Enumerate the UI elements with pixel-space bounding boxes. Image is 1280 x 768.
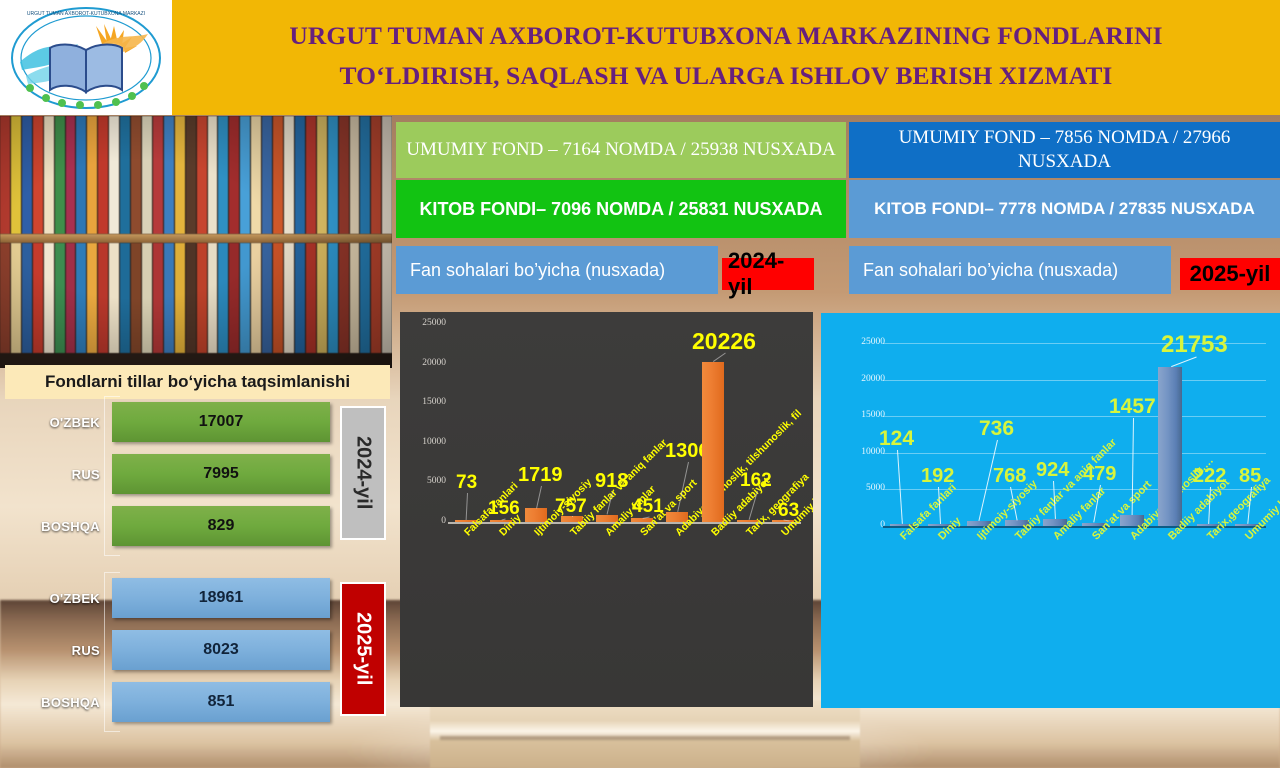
gridline [883,453,1266,454]
bar-value-label: 85 [1239,465,1261,488]
language-row: BOSHQA829 [0,504,392,548]
bar-value-label: 21753 [1161,331,1228,359]
banner-2025-subject-label: Fan sohalari bo’yicha (nusxada) [849,246,1171,294]
language-year-badge-2024: 2024-yil [340,406,386,540]
label-leader-line [897,450,903,524]
language-year-badge-2025: 2025-yil [340,582,386,716]
bar-value-label: 1719 [518,464,563,487]
page-header: URGUT TUMAN AXBOROT-KUTUBXONA MARKAZI UR… [0,0,1280,115]
bar-value-label: 222 [1193,465,1226,488]
language-name: O'ZBEK [0,415,112,430]
bar-value-label: 192 [921,465,954,488]
label-leader-line [536,486,542,509]
language-row: O'ZBEK17007 [0,400,392,444]
gridline [883,416,1266,417]
plot-area-2025: 0500010000150002000025000124Falsafa fanl… [821,313,1280,708]
bar-value-label: 1457 [1109,395,1156,419]
logo-container: URGUT TUMAN AXBOROT-KUTUBXONA MARKAZI [0,0,172,115]
bar-value-label: 162 [740,470,772,492]
bar-value-label: 73 [456,472,477,494]
language-row: RUS8023 [0,628,392,672]
y-axis-tick-label: 0 [406,516,446,526]
y-axis-tick-label: 15000 [406,397,446,407]
banner-2024-book-fund: KITOB FONDI– 7096 NOMDA / 25831 NUSXADA [396,180,846,238]
y-axis-tick-label: 20000 [406,358,446,368]
y-axis-tick-label: 5000 [406,476,446,486]
chart-subject-areas-2025: 0500010000150002000025000124Falsafa fanl… [821,313,1280,708]
page-title: URGUT TUMAN AXBOROT-KUTUBXONA MARKAZININ… [172,0,1280,115]
bar-value-label: 20226 [692,328,756,355]
language-bars-2025: O'ZBEK18961RUS8023BOSHQA851 [0,576,392,726]
bar-value-label: 768 [993,465,1026,488]
svg-text:URGUT TUMAN AXBOROT-KUTUBXONA: URGUT TUMAN AXBOROT-KUTUBXONA MARKAZI [27,11,145,17]
language-value-bar: 7995 [112,454,330,494]
page-title-line-2: TO‘LDIRISH, SAQLASH VA ULARGA ISHLOV BER… [340,56,1113,96]
y-axis-tick-label: 10000 [406,437,446,447]
page-title-line-1: URGUT TUMAN AXBOROT-KUTUBXONA MARKAZININ… [289,16,1162,56]
y-axis-tick-label: 25000 [843,337,885,347]
language-value-bar: 851 [112,682,330,722]
language-name: BOSHQA [0,519,112,534]
label-leader-line [572,516,573,517]
y-axis-tick-label: 20000 [843,374,885,384]
y-axis-tick-label: 25000 [406,318,446,328]
language-name: RUS [0,467,112,482]
plot-area-2024: 050001000015000200002500073Falsafa fanla… [400,312,813,707]
library-shelf-photo [0,116,392,368]
label-leader-line [466,493,468,520]
gridline [883,380,1266,381]
bar-value-label: 124 [879,427,914,451]
y-axis-tick-label: 5000 [843,483,885,493]
language-row: O'ZBEK18961 [0,576,392,620]
language-value-bar: 8023 [112,630,330,670]
photo-vignette [0,116,392,368]
y-axis-tick-label: 15000 [843,410,885,420]
language-row: BOSHQA851 [0,680,392,724]
year-badge-2024: 2024-yil [722,258,814,290]
language-bars-2024: O'ZBEK17007RUS7995BOSHQA829 [0,400,392,550]
year-badge-2025: 2025-yil [1180,258,1280,290]
library-center-logo-icon: URGUT TUMAN AXBOROT-KUTUBXONA MARKAZI [6,4,166,112]
language-name: O'ZBEK [0,591,112,606]
bar [702,362,724,522]
language-value-bar: 18961 [112,578,330,618]
banner-2025-book-fund: KITOB FONDI– 7778 NOMDA / 27835 NUSXADA [849,180,1280,238]
open-book-photo [430,700,860,768]
bar [1158,367,1182,526]
language-name: RUS [0,643,112,658]
bar-value-label: 736 [979,417,1014,441]
chart-subject-areas-2024: 050001000015000200002500073Falsafa fanla… [400,312,813,707]
infographic-poster: URGUT TUMAN AXBOROT-KUTUBXONA MARKAZI UR… [0,0,1280,768]
language-name: BOSHQA [0,695,112,710]
book-page-line [440,736,850,740]
bar-value-label: 918 [595,470,628,493]
bar-value-label: 924 [1036,459,1069,482]
banner-2025-total-fund: UMUMIY FOND – 7856 NOMDA / 27966 NUSXADA [849,122,1280,178]
language-value-bar: 17007 [112,402,330,442]
language-row: RUS7995 [0,452,392,496]
banner-2024-subject-label: Fan sohalari bo’yicha (nusxada) [396,246,718,294]
language-panel-title: Fondlarni tillar bo‘yicha taqsimlanishi [5,365,390,399]
banner-2024-total-fund: UMUMIY FOND – 7164 NOMDA / 25938 NUSXADA [396,122,846,178]
y-axis-tick-label: 0 [843,520,885,530]
bar-value-label: 479 [1083,463,1116,486]
language-value-bar: 829 [112,506,330,546]
